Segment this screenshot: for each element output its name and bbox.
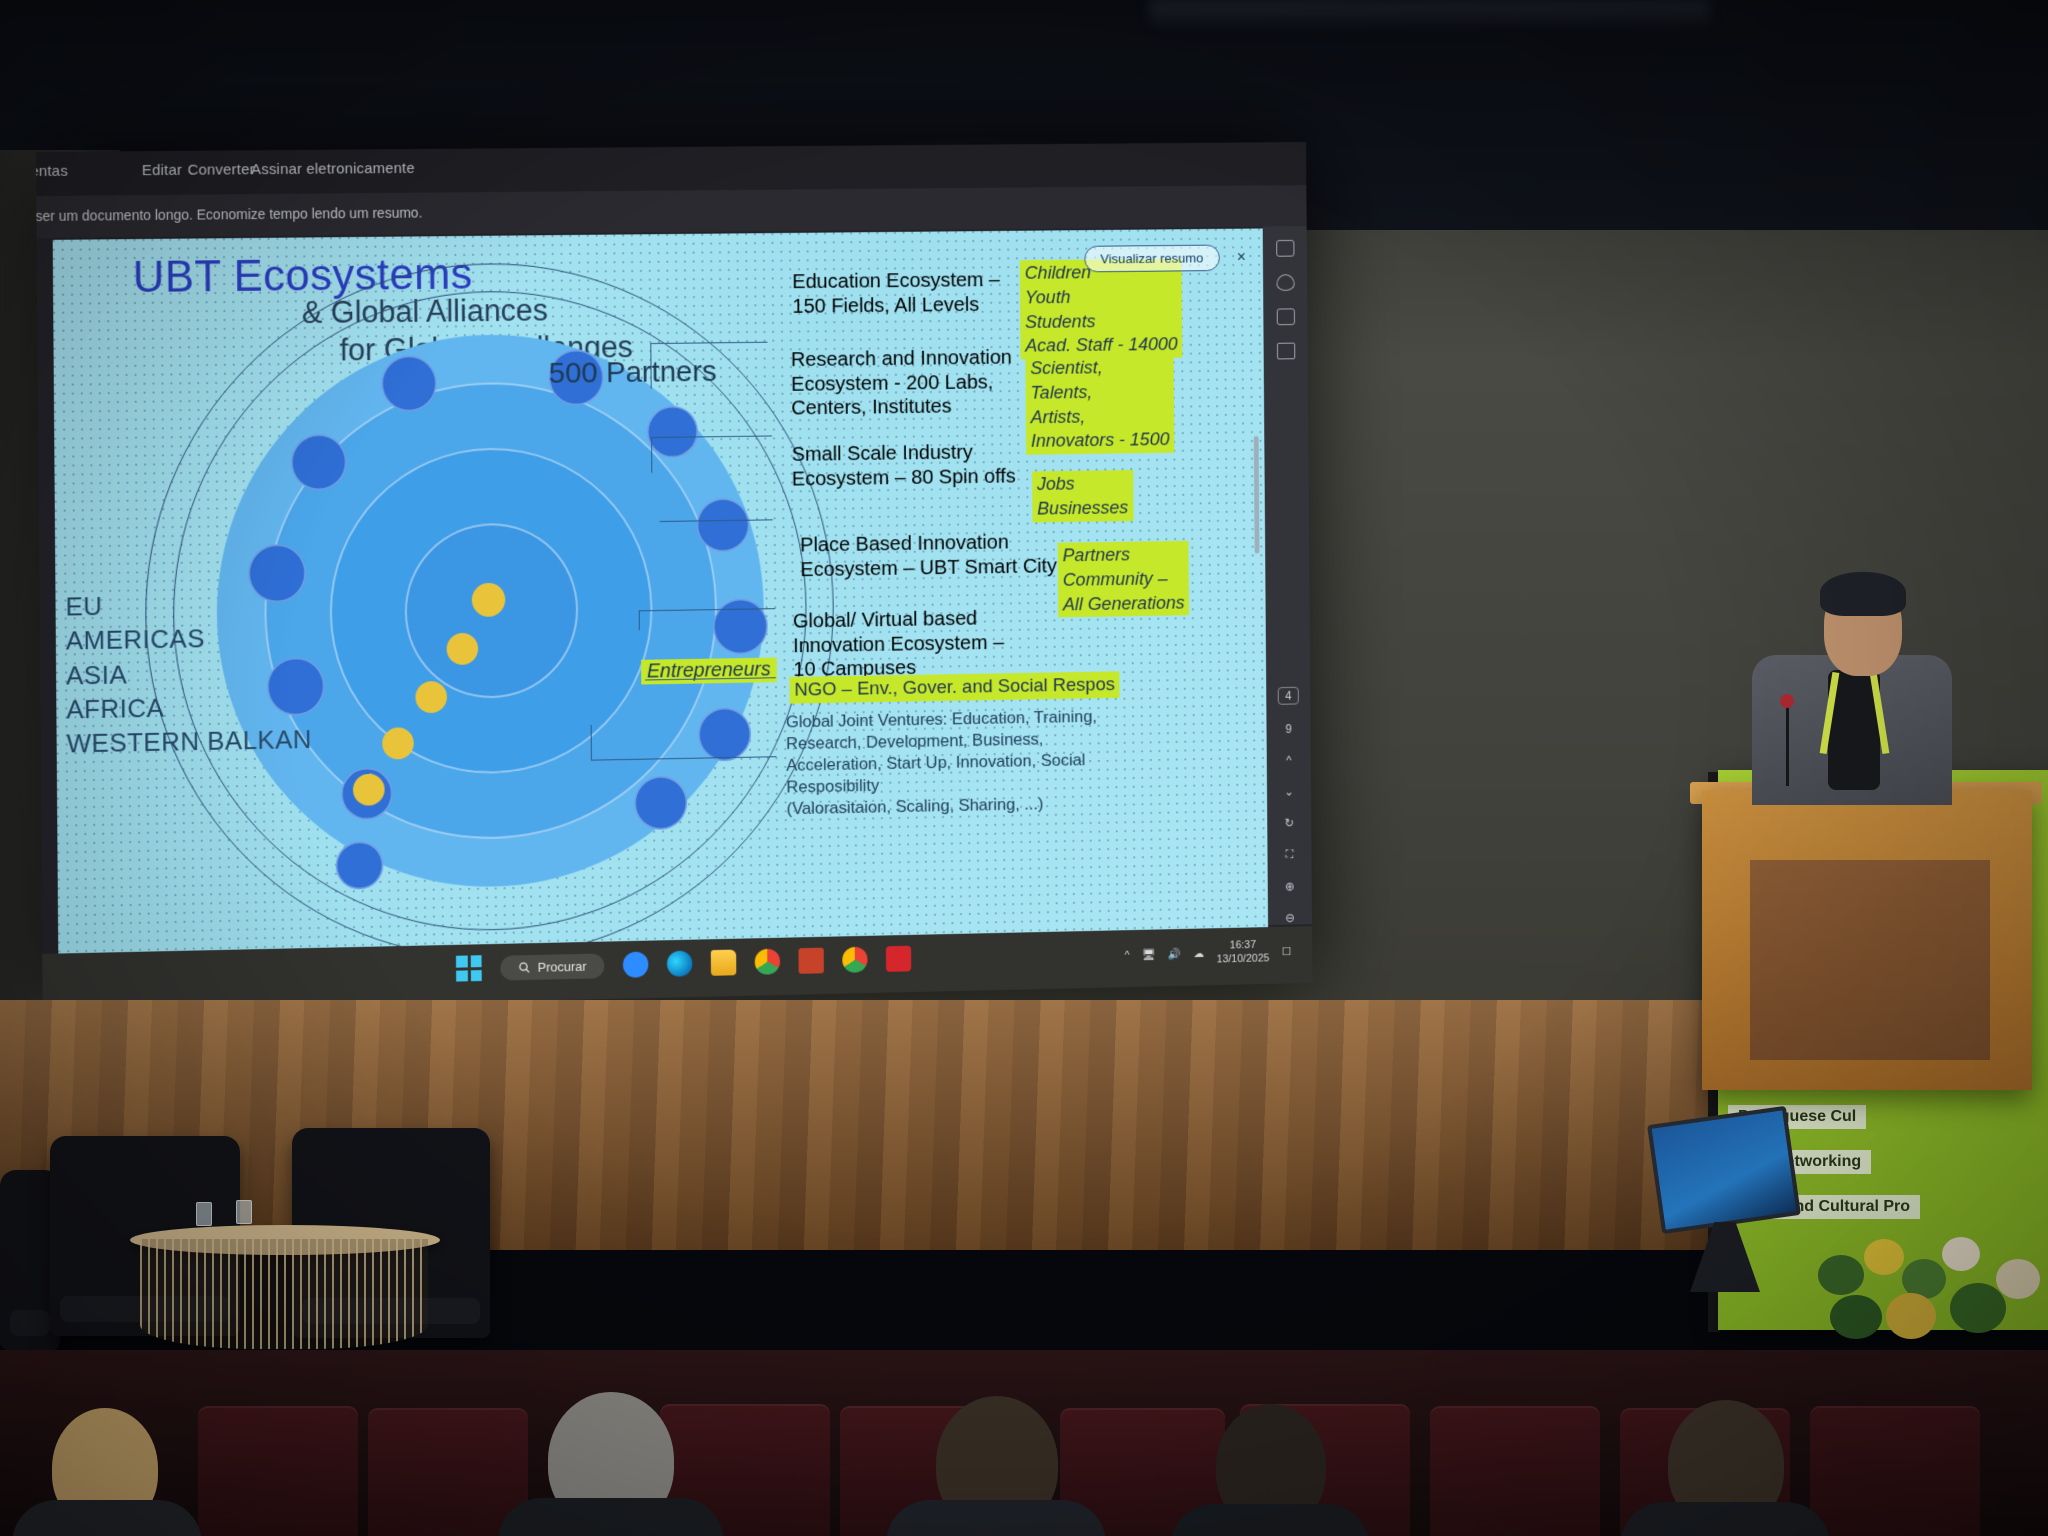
menu-item-convert[interactable]: Converter — [188, 161, 255, 178]
confidence-monitor — [1647, 1106, 1801, 1234]
ecosystem-item-highlight: Children Youth Students Acad. Staff - 14… — [1020, 259, 1183, 360]
microphone-stand — [1786, 700, 1789, 786]
fit-page-icon[interactable]: ⛶ — [1285, 847, 1293, 862]
region-item: AFRICA — [66, 688, 312, 727]
region-item: ASIA — [66, 654, 312, 692]
conference-room-photo: erramentas Editar Converter Assinar elet… — [0, 0, 2048, 1536]
current-page-number[interactable]: 4 — [1277, 687, 1299, 705]
audience-shoulders — [1620, 1502, 1830, 1536]
ceiling-light-reflection — [1150, 0, 1710, 30]
ecosystem-item-text: Global/ Virtual based Innovation Ecosyst… — [793, 606, 1005, 682]
partners-label: 500 Partners — [549, 355, 717, 391]
comment-icon[interactable] — [1276, 240, 1294, 257]
menu-item-esign[interactable]: Assinar eletronicamente — [251, 160, 415, 178]
audience-shoulders — [498, 1498, 724, 1536]
taskbar-search[interactable]: Procurar — [500, 953, 604, 980]
flower-arrangement — [1800, 1225, 2048, 1365]
search-icon — [518, 961, 531, 974]
theater-seat — [1430, 1406, 1600, 1536]
table-base — [140, 1239, 428, 1349]
view-summary-button[interactable]: Visualizar resumo — [1084, 245, 1220, 273]
entrepreneurs-label: Entrepreneurs — [641, 657, 777, 684]
region-item: AMERICAS — [66, 620, 312, 658]
pages-icon[interactable] — [1276, 343, 1294, 360]
ngo-highlight: NGO – Env., Gover. and Social Respos — [789, 671, 1119, 704]
projection-screen: erramentas Editar Converter Assinar elet… — [36, 142, 1312, 1012]
powerpoint-icon[interactable] — [798, 948, 823, 974]
network-icon[interactable]: ☁ — [1194, 947, 1205, 960]
ecosystem-item-text: Research and Innovation Ecosystem - 200 … — [791, 346, 1012, 421]
clock-time: 16:37 — [1217, 939, 1270, 954]
ecosystem-item-highlight: Scientist, Talents, Artists, Innovators … — [1025, 354, 1174, 455]
chevron-up-icon[interactable]: ^ — [1125, 949, 1130, 961]
theater-seat — [1810, 1406, 1980, 1536]
volume-icon[interactable]: 🔊 — [1168, 948, 1181, 961]
pdf-page: UBT Ecosystems & Global Alliances for Gl… — [53, 228, 1268, 953]
bookmark-icon[interactable] — [1276, 308, 1294, 325]
taskbar-search-label: Procurar — [538, 958, 587, 974]
regions-list: EU AMERICAS ASIA AFRICA WESTERN BALKAN — [65, 586, 312, 761]
acrobat-window: erramentas Editar Converter Assinar elet… — [36, 142, 1312, 1012]
water-glass — [196, 1202, 212, 1226]
summary-bar: Visualizar resumo × — [1084, 244, 1246, 272]
audience-shoulders — [12, 1500, 202, 1536]
audience-shoulders — [1170, 1504, 1370, 1536]
region-item: EU — [65, 586, 311, 624]
chrome-icon[interactable] — [755, 949, 781, 975]
eye-icon[interactable] — [1276, 274, 1294, 291]
start-button[interactable] — [456, 955, 482, 981]
leader-line — [639, 610, 640, 630]
monitor-screen — [1652, 1110, 1797, 1229]
edge-icon[interactable] — [667, 951, 693, 977]
region-item: WESTERN BALKAN — [66, 722, 312, 761]
close-icon[interactable]: × — [1237, 249, 1246, 267]
ecosystem-item-text: Education Ecosystem – 150 Fields, All Le… — [792, 268, 1000, 319]
taskbar-clock[interactable]: 16:37 13/10/2025 — [1217, 939, 1270, 967]
microphone-head — [1780, 694, 1794, 708]
taskbar-tray: ^ 🖥 🔊 ☁ 16:37 13/10/2025 ☐ — [1125, 938, 1292, 969]
page-scrollbar[interactable] — [1254, 436, 1260, 554]
ecosystem-item-highlight: Jobs Businesses — [1032, 470, 1133, 522]
theater-seat — [368, 1408, 528, 1536]
zoom-app-icon[interactable] — [623, 952, 649, 978]
acrobat-icon[interactable] — [886, 946, 911, 972]
joint-ventures-text: Global Joint Ventures: Education, Traini… — [786, 705, 1173, 821]
chevron-up-icon[interactable]: ^ — [1286, 753, 1291, 767]
rotate-icon[interactable]: ↻ — [1284, 816, 1294, 830]
audience-shoulders — [886, 1500, 1106, 1536]
ecosystem-item-text: Small Scale Industry Ecosystem – 80 Spin… — [792, 440, 1016, 491]
notifications-icon[interactable]: ☐ — [1282, 945, 1292, 958]
chrome-icon-2[interactable] — [842, 947, 867, 973]
theater-seat — [198, 1406, 358, 1536]
ecosystem-item-highlight: Partners Community – All Generations — [1058, 541, 1190, 618]
total-page-number: 9 — [1285, 722, 1291, 736]
speaker-hair — [1820, 572, 1906, 616]
display-icon[interactable]: 🖥 — [1142, 948, 1156, 961]
menu-item-edit[interactable]: Editar — [142, 162, 182, 179]
taskbar-apps: Procurar — [456, 946, 911, 982]
ecosystem-item-text: Place Based Innovation Ecosystem – UBT S… — [800, 530, 1057, 582]
podium-front-panel — [1750, 860, 1990, 1060]
acrobat-right-rail: 4 9 ^ ⌄ ↻ ⛶ ⊕ ⊖ — [1263, 226, 1312, 925]
zoom-out-icon[interactable]: ⊖ — [1285, 911, 1295, 925]
rail-spacer — [1286, 377, 1288, 669]
zoom-in-icon[interactable]: ⊕ — [1285, 880, 1295, 894]
water-glass — [236, 1200, 252, 1224]
chevron-down-icon[interactable]: ⌄ — [1284, 785, 1294, 799]
clock-date: 13/10/2025 — [1217, 952, 1270, 967]
file-explorer-icon[interactable] — [711, 950, 737, 976]
menu-item-tools[interactable]: erramentas — [36, 163, 68, 181]
